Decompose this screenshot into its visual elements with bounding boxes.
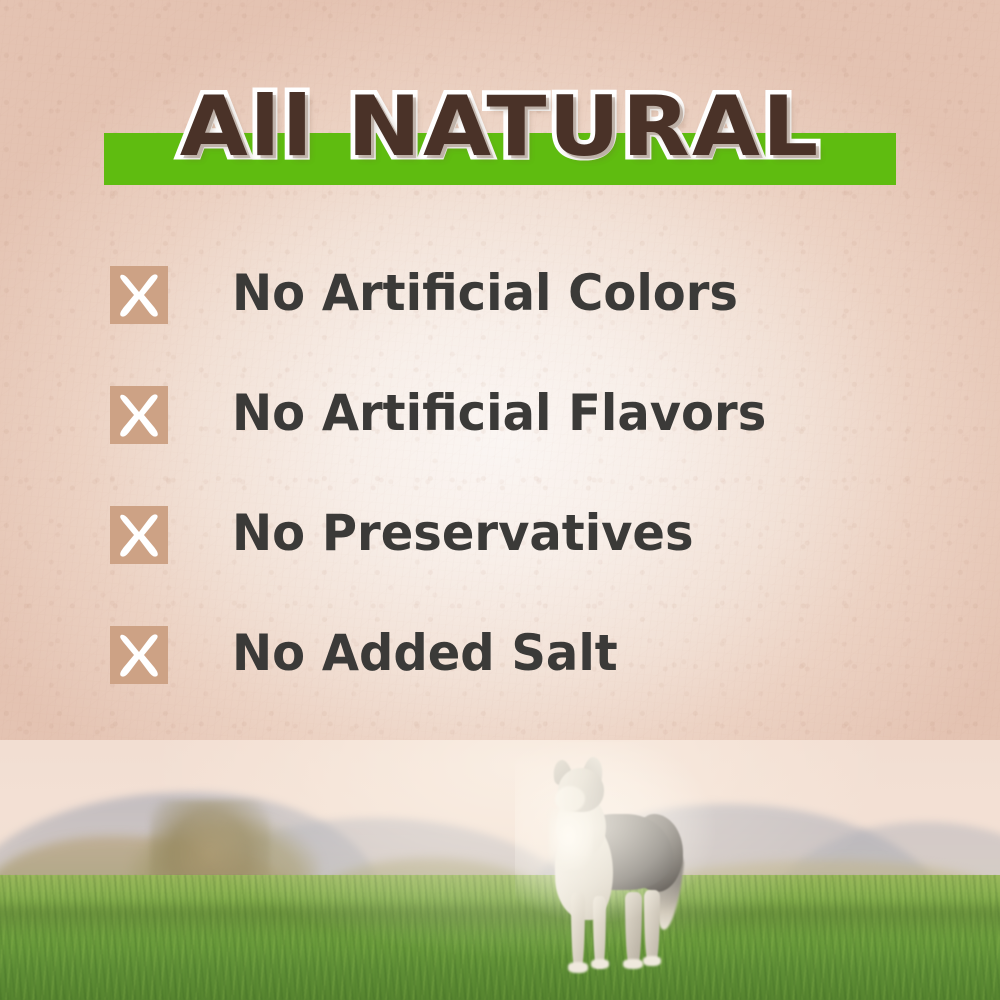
dog-back-leg-left xyxy=(625,892,642,966)
benefit-label: No Artificial Colors xyxy=(232,260,738,326)
benefit-label: No Artificial Flavors xyxy=(232,380,766,446)
dog-paw-1 xyxy=(568,962,588,973)
headline-block: All NATURAL xyxy=(0,84,1000,188)
benefit-row: No Added Salt xyxy=(110,626,970,746)
x-mark-icon xyxy=(110,506,168,564)
poster: All NATURAL No Artificial Colors No Arti… xyxy=(0,0,1000,1000)
benefit-label: No Added Salt xyxy=(232,620,618,686)
dog-front-leg-left xyxy=(571,892,585,968)
benefit-row: No Artificial Flavors xyxy=(110,386,970,506)
dog-front-leg-right xyxy=(593,896,606,968)
dog-back-leg-right xyxy=(644,890,660,962)
dog-paw-4 xyxy=(643,956,661,966)
x-mark-icon xyxy=(110,386,168,444)
dog-paw-2 xyxy=(591,959,609,969)
headline-text: All NATURAL xyxy=(0,84,1000,170)
benefit-row: No Preservatives xyxy=(110,506,970,626)
grass-shadow-ridge xyxy=(0,906,1000,940)
dog-ruff xyxy=(549,808,593,870)
benefit-row: No Artificial Colors xyxy=(110,266,970,386)
x-mark-icon xyxy=(110,626,168,684)
x-mark-icon xyxy=(110,266,168,324)
dog-paw-3 xyxy=(623,959,643,969)
benefit-label: No Preservatives xyxy=(232,500,694,566)
benefits-list: No Artificial Colors No Artificial Flavo… xyxy=(110,266,970,746)
dog-muzzle xyxy=(555,786,585,812)
landscape-photo xyxy=(0,740,1000,1000)
border-collie-dog xyxy=(527,752,702,978)
